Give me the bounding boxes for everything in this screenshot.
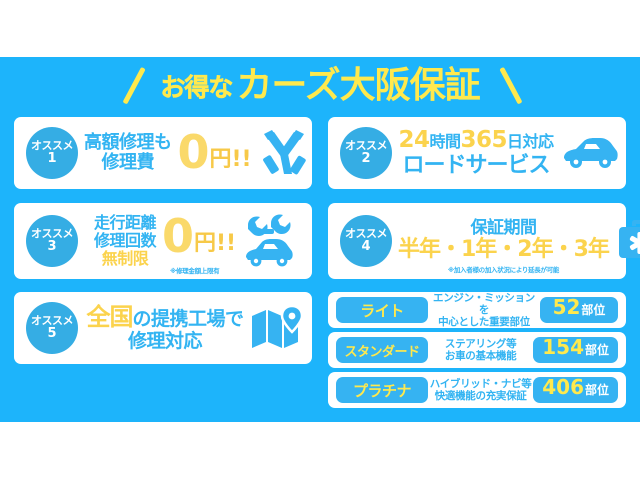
card-3-line3: 無制限 <box>102 250 149 268</box>
card-3-amount: 0 円!! ※修理金額上限有 <box>162 217 236 264</box>
slash-right-icon <box>484 66 514 106</box>
badge-osusume-1: オススメ 1 <box>26 127 78 179</box>
plan-desc-line2: 中心とした重要部位 <box>428 316 540 328</box>
plan-count-number: 406 <box>542 377 584 397</box>
card-5-body: 全国の提携工場で 修理対応 <box>78 304 312 352</box>
card-3-body: 走行距離 修理回数 無制限 0 円!! ※修理金額上限有 <box>78 213 312 269</box>
card-3-note: ※修理金額上限有 <box>170 265 219 275</box>
plan-desc-line2: 快適機能の充実保証 <box>428 390 533 402</box>
badge-number: 3 <box>47 240 56 254</box>
card-1-text: 高額修理も 修理費 <box>84 133 172 173</box>
feature-card-3: オススメ 3 走行距離 修理回数 無制限 0 円!! ※修理金額上限有 <box>14 203 312 279</box>
card-2-body: 24時間365日対応 ロードサービス <box>392 127 626 178</box>
crossed-tools-icon <box>258 130 310 176</box>
card-3-text: 走行距離 修理回数 無制限 <box>94 214 156 268</box>
plan-name-pill: プラチナ <box>336 377 428 403</box>
card-4-body: 保証期間 半年・1年・2年・3年 ※加入者様の加入状況により延長が可能 <box>392 218 640 264</box>
card-2-text: 24時間365日対応 ロードサービス <box>398 127 553 178</box>
map-pin-icon <box>250 306 304 350</box>
feature-card-2: オススメ 2 24時間365日対応 ロードサービス <box>328 117 626 189</box>
card-1-body: 高額修理も 修理費 0 円!! <box>78 130 316 176</box>
card-4-line2: 半年・1年・2年・3年 <box>398 238 609 263</box>
plan-row-platinum[interactable]: プラチナ ハイブリッド・ナビ等 快適機能の充実保証 406 部位 <box>328 372 626 408</box>
plan-desc-line1: ステアリング等 <box>428 338 533 350</box>
badge-number: 1 <box>47 152 56 166</box>
plan-count-unit: 部位 <box>581 301 605 318</box>
card-5-highlight: 全国 <box>86 303 132 331</box>
feature-card-1: オススメ 1 高額修理も 修理費 0 円!! <box>14 117 312 189</box>
card-1-amount-number: 0 <box>178 133 210 172</box>
plan-count-pill: 406 部位 <box>533 377 618 403</box>
badge-osusume-5: オススメ 5 <box>26 302 78 354</box>
plan-count-number: 154 <box>542 337 584 357</box>
card-3-amount-number: 0 <box>162 217 194 256</box>
card-2-hours-number: 24 <box>398 127 429 153</box>
plan-desc-line2: お車の基本機能 <box>428 350 533 362</box>
card-5-line2: 修理対応 <box>128 331 202 352</box>
feature-card-4: オススメ 4 保証期間 半年・1年・2年・3年 ※加入者様の加入状況により延長が… <box>328 203 626 279</box>
plan-description: ハイブリッド・ナビ等 快適機能の充実保証 <box>428 378 533 402</box>
card-2-hours-unit: 時間 <box>429 132 460 151</box>
plan-count-unit: 部位 <box>585 381 609 398</box>
plan-description: ステアリング等 お車の基本機能 <box>428 338 533 362</box>
card-3-amount-unit: 円!! <box>194 233 236 257</box>
card-1-amount: 0 円!! <box>178 133 252 172</box>
plan-count-number: 52 <box>553 297 581 317</box>
card-3-line1: 走行距離 <box>94 214 156 232</box>
card-1-amount-unit: 円!! <box>210 149 252 173</box>
plan-count-unit: 部位 <box>585 341 609 358</box>
plan-desc-line1: ハイブリッド・ナビ等 <box>428 378 533 390</box>
card-4-text: 保証期間 半年・1年・2年・3年 ※加入者様の加入状況により延長が可能 <box>398 219 609 263</box>
badge-osusume-3: オススメ 3 <box>26 215 78 267</box>
feature-card-5: オススメ 5 全国の提携工場で 修理対応 <box>14 292 312 364</box>
card-5-line1: 全国の提携工場で <box>86 304 243 331</box>
slash-left-icon <box>126 66 156 106</box>
badge-number: 2 <box>361 152 370 166</box>
card-2-line2: ロードサービス <box>402 154 549 179</box>
badge-number: 5 <box>47 327 56 341</box>
card-5-line1-rest: の提携工場で <box>132 308 243 330</box>
card-2-days-unit: 日対応 <box>507 132 554 151</box>
car-wrench-icon <box>242 213 296 269</box>
card-2-line1: 24時間365日対応 <box>398 127 553 153</box>
plan-row-light[interactable]: ライト エンジン・ミッションを 中心とした重要部位 52 部位 <box>328 292 626 328</box>
plan-count-pill: 154 部位 <box>533 337 618 363</box>
poster: お得な カーズ大阪保証 オススメ 1 高額修理も 修理費 0 円!! <box>0 0 640 480</box>
title-small-text: お得な <box>160 68 232 104</box>
card-1-line2: 修理費 <box>102 153 155 173</box>
badge-osusume-4: オススメ 4 <box>340 215 392 267</box>
plan-count-pill: 52 部位 <box>540 297 618 323</box>
card-5-text: 全国の提携工場で 修理対応 <box>86 304 243 352</box>
medical-case-icon <box>615 218 640 264</box>
poster-title: お得な カーズ大阪保証 <box>0 62 640 110</box>
card-4-note: ※加入者様の加入状況により延長が可能 <box>448 267 559 274</box>
card-1-line1: 高額修理も <box>84 133 172 153</box>
plan-row-standard[interactable]: スタンダード ステアリング等 お車の基本機能 154 部位 <box>328 332 626 368</box>
plan-desc-line1: エンジン・ミッションを <box>428 292 540 316</box>
badge-number: 4 <box>361 240 370 254</box>
plan-name-pill: スタンダード <box>336 337 428 363</box>
card-2-days-number: 365 <box>461 127 508 153</box>
card-4-line1: 保証期間 <box>470 219 536 238</box>
title-big-text: カーズ大阪保証 <box>236 68 479 104</box>
plan-name-pill: ライト <box>336 297 428 323</box>
badge-osusume-2: オススメ 2 <box>340 127 392 179</box>
card-3-line2: 修理回数 <box>94 232 156 250</box>
car-icon <box>560 136 620 170</box>
plan-description: エンジン・ミッションを 中心とした重要部位 <box>428 292 540 328</box>
